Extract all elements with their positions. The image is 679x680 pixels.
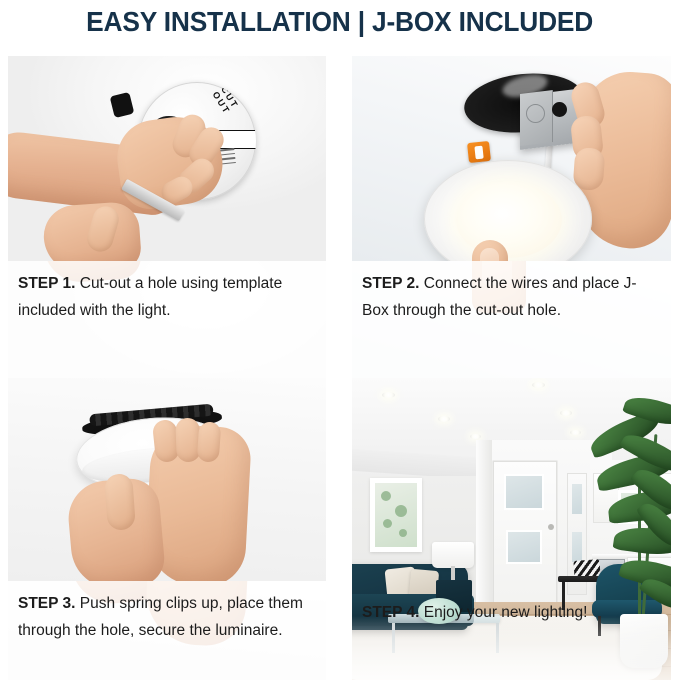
page-title: EASY INSTALLATION | J-BOX INCLUDED (86, 6, 593, 38)
orange-spring-clip (467, 141, 491, 163)
door-knob (548, 524, 554, 530)
led-light-lens (456, 182, 562, 258)
door-glass-upper (504, 474, 544, 510)
thumb (104, 473, 136, 531)
step-2-caption-text: STEP 2. Connect the wires and place J-Bo… (362, 271, 661, 324)
step-2-lead: STEP 2. (362, 275, 419, 292)
step-4-caption: STEP 4. Enjoy your new lighting! (352, 590, 671, 680)
finger (197, 421, 222, 462)
recessed-light (532, 382, 545, 388)
step-3-caption: STEP 3. Push spring clips up, place them… (8, 581, 326, 680)
installation-infographic: EASY INSTALLATION | J-BOX INCLUDED PLATE… (0, 0, 679, 680)
thumbnail (480, 248, 499, 261)
step-3-photo (8, 378, 326, 581)
recessed-light (438, 416, 450, 422)
step-2-photo (352, 56, 671, 261)
recessed-light (470, 434, 481, 439)
framed-artwork (370, 478, 422, 552)
table-lamp-shade (432, 542, 474, 568)
step-card-2[interactable]: STEP 2. Connect the wires and place J-Bo… (352, 56, 671, 400)
step-4-text: Enjoy your new lighting! (419, 604, 587, 621)
steps-grid: PLATE CUT OUT PARTHIA (0, 44, 679, 680)
door-glass-lower (506, 530, 542, 564)
step-4-lead: STEP 4. (362, 604, 419, 621)
step-card-4[interactable]: STEP 4. Enjoy your new lighting! (352, 378, 671, 680)
finger (175, 418, 201, 463)
step-1-photo: PLATE CUT OUT PARTHIA (8, 56, 326, 261)
step-1-lead: STEP 1. (18, 275, 75, 292)
page-header: EASY INSTALLATION | J-BOX INCLUDED (0, 0, 679, 44)
step-1-caption-text: STEP 1. Cut-out a hole using template in… (18, 271, 316, 324)
step-card-1[interactable]: PLATE CUT OUT PARTHIA (8, 56, 326, 400)
step-4-caption-text: STEP 4. Enjoy your new lighting! (362, 600, 661, 627)
finger (573, 147, 606, 191)
step-3-caption-text: STEP 3. Push spring clips up, place them… (18, 591, 316, 644)
wire-grommet (552, 102, 567, 117)
knockout-ring (526, 104, 545, 123)
step-3-lead: STEP 3. (18, 595, 75, 612)
step-card-3[interactable]: STEP 3. Push spring clips up, place them… (8, 378, 326, 680)
recessed-light (560, 410, 572, 416)
recessed-light (570, 430, 581, 435)
recessed-light (382, 392, 395, 398)
